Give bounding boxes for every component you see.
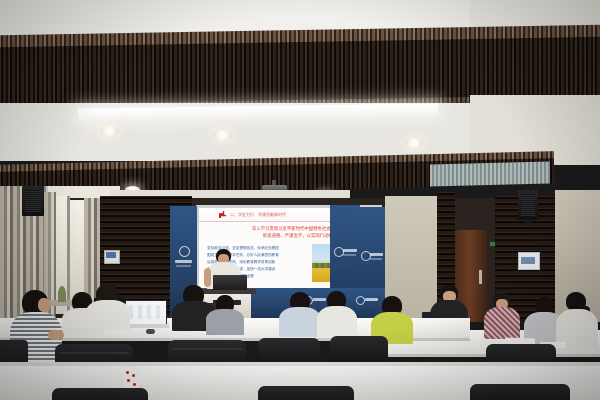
ceiling-glass-slats	[430, 162, 550, 187]
party-emblem-icon	[219, 211, 226, 218]
banner-wall-word-3	[365, 298, 378, 301]
attendee-striped-shirt-arm	[48, 330, 64, 340]
attendee-striped-shirt-face	[38, 298, 50, 312]
downlight-3	[405, 138, 423, 148]
downlight-2	[213, 130, 232, 140]
window-frame-post	[67, 196, 70, 314]
laptop-center-mouse	[146, 329, 155, 334]
chair-front-2[interactable]	[258, 386, 354, 400]
banner-left-word	[175, 260, 192, 263]
speaker-right-bracket	[526, 220, 531, 226]
attendee-dark-hair-back-body	[86, 300, 130, 330]
presenter-laptop	[213, 275, 247, 290]
chair-mid-2-seam	[172, 348, 242, 350]
downlight-1	[100, 126, 119, 136]
banner-right-sub	[370, 258, 382, 260]
laptop-open-center-content	[129, 305, 163, 319]
banner-wall-word-2	[313, 298, 326, 301]
chair-mid-1-seam	[59, 352, 129, 354]
banner-mid-word	[343, 249, 357, 252]
mug-pattern-dot-3	[127, 379, 130, 382]
chair-mid-4[interactable]	[330, 336, 388, 364]
wall-control-panel-display	[106, 252, 116, 258]
wall-notice-sign-graphic	[521, 257, 535, 264]
mug-pattern-dot-2	[132, 374, 135, 377]
attendee-pale-blue-body	[279, 307, 321, 337]
banner-mid-sub	[343, 254, 356, 256]
chair-front-1[interactable]	[52, 388, 148, 400]
conference-room-photo: 二、学史力行 廿建贡献新时代 深入学习贯彻习近平新时代中国特色社会主义思想 崇高…	[0, 0, 600, 400]
banner-left-sub	[176, 265, 191, 267]
chair-front-3[interactable]	[470, 384, 570, 400]
speaker-left-grill	[25, 190, 41, 212]
banner-wall-logo-3	[356, 296, 365, 305]
presenter-arm	[204, 268, 211, 287]
attendee-grey-top-body	[206, 309, 244, 335]
speaker-right-grill	[521, 194, 535, 216]
mug-pattern-dot-4	[133, 383, 136, 386]
mug-pattern-dot-1	[126, 371, 129, 374]
banner-left-logo	[179, 246, 190, 257]
banner-right-word	[370, 253, 383, 256]
attendee-white-tee-body	[317, 306, 357, 338]
table-front-shadow	[0, 362, 600, 366]
attendee-floral-body	[484, 307, 520, 339]
plant-on-sill	[58, 286, 66, 302]
door-handle	[479, 270, 482, 284]
laptop-open-center	[125, 300, 167, 326]
mug-handle	[138, 371, 150, 385]
